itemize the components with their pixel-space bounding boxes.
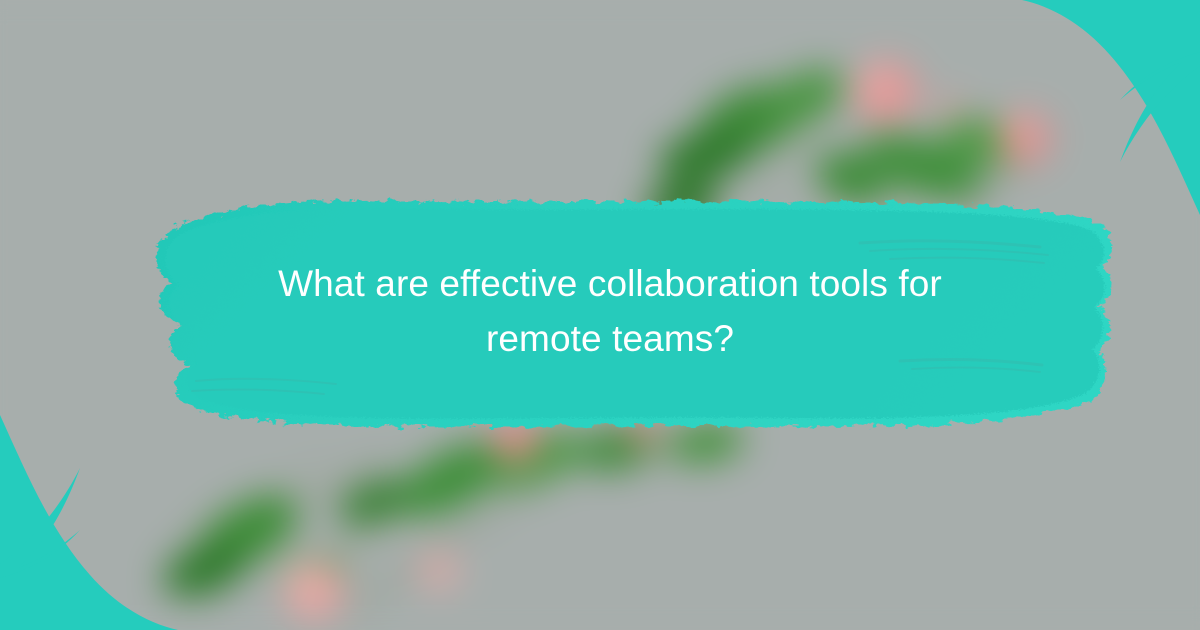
headline-line-1: What are effective collaboration tools f…	[278, 257, 942, 312]
wave-shape-bottom-left	[0, 415, 178, 630]
poster-canvas: What are effective collaboration tools f…	[0, 0, 1200, 630]
headline-line-2: remote teams?	[486, 312, 734, 367]
wave-shape-top-right	[1022, 0, 1200, 215]
decor-wave-bottom-left	[0, 415, 230, 630]
headline-block: What are effective collaboration tools f…	[120, 200, 1100, 424]
decor-wave-top-right	[970, 0, 1200, 215]
